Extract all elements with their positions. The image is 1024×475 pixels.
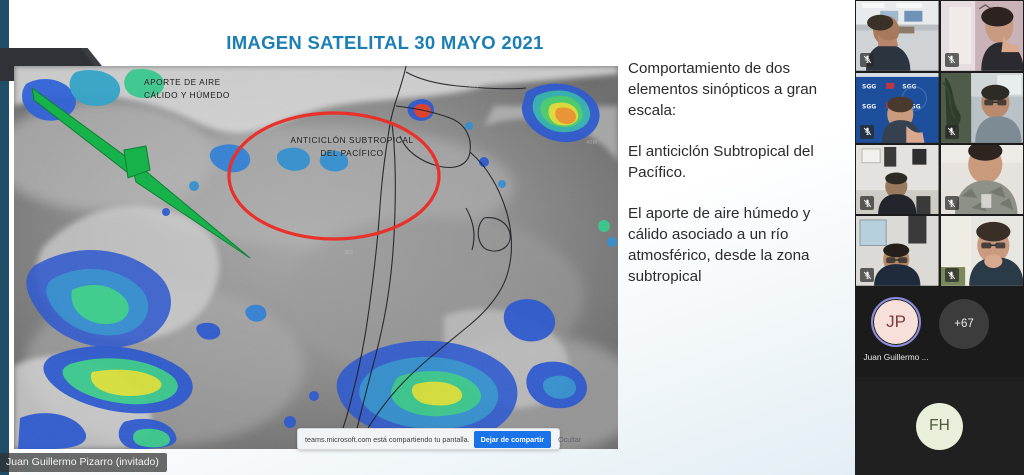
slide-body-text: Comportamiento de dos elementos sinóptic… [620, 56, 855, 475]
svg-text:SGG: SGG [862, 103, 876, 110]
microphone-muted-icon [860, 196, 874, 210]
participant-speaking[interactable]: JP Juan Guillermo ... [863, 297, 929, 362]
video-tile[interactable] [941, 145, 1024, 215]
page-title: IMAGEN SATELITAL 30 MAYO 2021 [150, 32, 620, 54]
participant-avatar-row: JP Juan Guillermo ... +67 [855, 289, 1024, 374]
participant-name: Juan Guillermo ... [863, 352, 928, 362]
teams-meeting-window: IMAGEN SATELITAL 30 MAYO 2021 [0, 0, 1024, 475]
participant-rail: SGGSGG SGGSGG [855, 0, 1024, 475]
satellite-image-pixels: 20S 30S 40W [14, 66, 618, 449]
overflow-participants-count[interactable]: +67 [939, 299, 989, 349]
video-tile[interactable] [941, 216, 1024, 286]
hide-notification-button[interactable]: Ocultar [555, 435, 584, 444]
video-tile-grid: SGGSGG SGGSGG [855, 0, 1024, 287]
slide-paragraph-1: Comportamiento de dos elementos sinóptic… [628, 58, 847, 121]
microphone-muted-icon [945, 268, 959, 282]
microphone-muted-icon [945, 53, 959, 67]
microphone-muted-icon [860, 268, 874, 282]
satellite-image: 20S 30S 40W [14, 66, 618, 449]
svg-text:SGG: SGG [862, 84, 876, 91]
microphone-muted-icon [945, 196, 959, 210]
presenter-name-chip: Juan Guillermo Pizarro (invitado) [0, 453, 167, 472]
video-tile[interactable] [941, 73, 1024, 143]
powerpoint-slide: IMAGEN SATELITAL 30 MAYO 2021 [0, 0, 855, 475]
video-tile[interactable] [856, 145, 939, 215]
slide-paragraph-3: El aporte de aire húmedo y cálido asocia… [628, 203, 847, 287]
avatar[interactable]: FH [916, 403, 963, 450]
microphone-muted-icon [860, 53, 874, 67]
video-tile[interactable] [856, 216, 939, 286]
stop-sharing-button[interactable]: Dejar de compartir [474, 431, 552, 448]
screen-share-notification: teams.microsoft.com está compartiendo tu… [297, 428, 560, 450]
satellite-infrared-graphic: 20S 30S 40W [14, 66, 618, 449]
avatar[interactable]: JP [871, 297, 921, 347]
slide-paragraph-2: El anticiclón Subtropical del Pacífico. [628, 141, 847, 183]
video-tile[interactable] [856, 1, 939, 71]
participant-tile-fh[interactable]: FH [855, 377, 1024, 475]
shared-screen-region: IMAGEN SATELITAL 30 MAYO 2021 [0, 0, 855, 475]
microphone-muted-icon [945, 125, 959, 139]
annotation-label-anticiclon: ANTICICLÓN SUBTROPICAL DEL PACÍFICO [267, 134, 437, 159]
microphone-muted-icon [860, 125, 874, 139]
annotation-label-aporte: APORTE DE AIRE CÁLIDO Y HÚMEDO [144, 76, 230, 101]
video-tile[interactable]: SGGSGG SGGSGG [856, 73, 939, 143]
video-tile[interactable] [941, 1, 1024, 71]
share-status-text: teams.microsoft.com está compartiendo tu… [305, 435, 470, 444]
